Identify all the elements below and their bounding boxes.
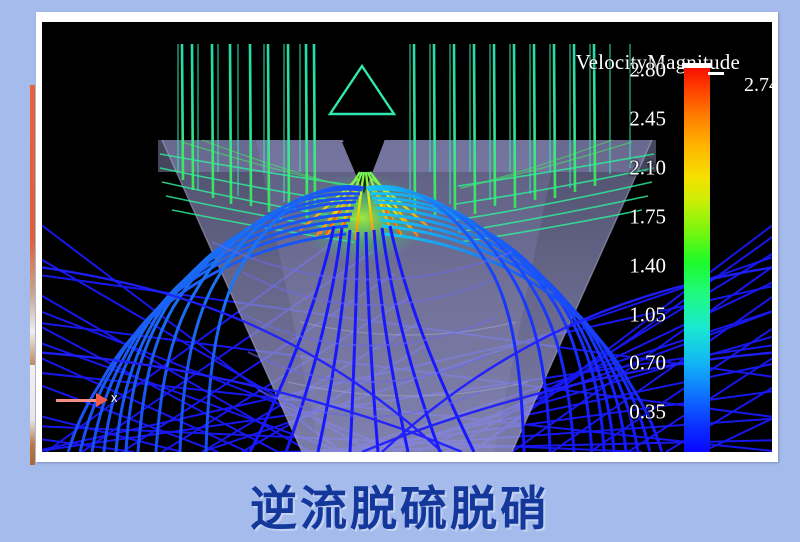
colorbar-tick-0.70: 0.70 [629,351,666,376]
x-axis-arrow-shaft [56,399,100,402]
colorbar-tick-0.00: 0.00 [629,447,666,452]
colorbar-cap-top [682,63,712,68]
left-edge-strip-lower [30,365,35,465]
colorbar-tick-labels: 2.80 2.45 2.10 1.75 1.40 1.05 0.70 0.35 … [576,60,666,452]
screenshot-root: VelocityMagnitude 2.80 2.45 2.10 1.75 1.… [0,0,800,542]
x-axis-label: x [111,390,118,405]
colorbar-tick-0.35: 0.35 [629,400,666,425]
cfd-visualization-canvas[interactable]: VelocityMagnitude 2.80 2.45 2.10 1.75 1.… [42,22,772,452]
colorbar-max-value: 2.74 [744,74,772,97]
colorbar-tick-1.05: 1.05 [629,302,666,327]
left-edge-strip-upper [30,85,35,365]
colorbar-tick-1.75: 1.75 [629,204,666,229]
colorbar-tick-1.40: 1.40 [629,253,666,278]
colorbar-tick-2.80: 2.80 [629,58,666,83]
colorbar-gradient [684,68,710,452]
colorbar-tick-2.10: 2.10 [629,155,666,180]
figure-caption: 逆流脱硫脱硝 [0,470,800,539]
axis-orientation-indicator: x [56,388,126,414]
colorbar[interactable] [684,60,710,452]
colorbar-tick-2.45: 2.45 [629,106,666,131]
colorbar-max-tickmark [708,72,724,75]
x-axis-arrow-head-icon [96,393,108,407]
